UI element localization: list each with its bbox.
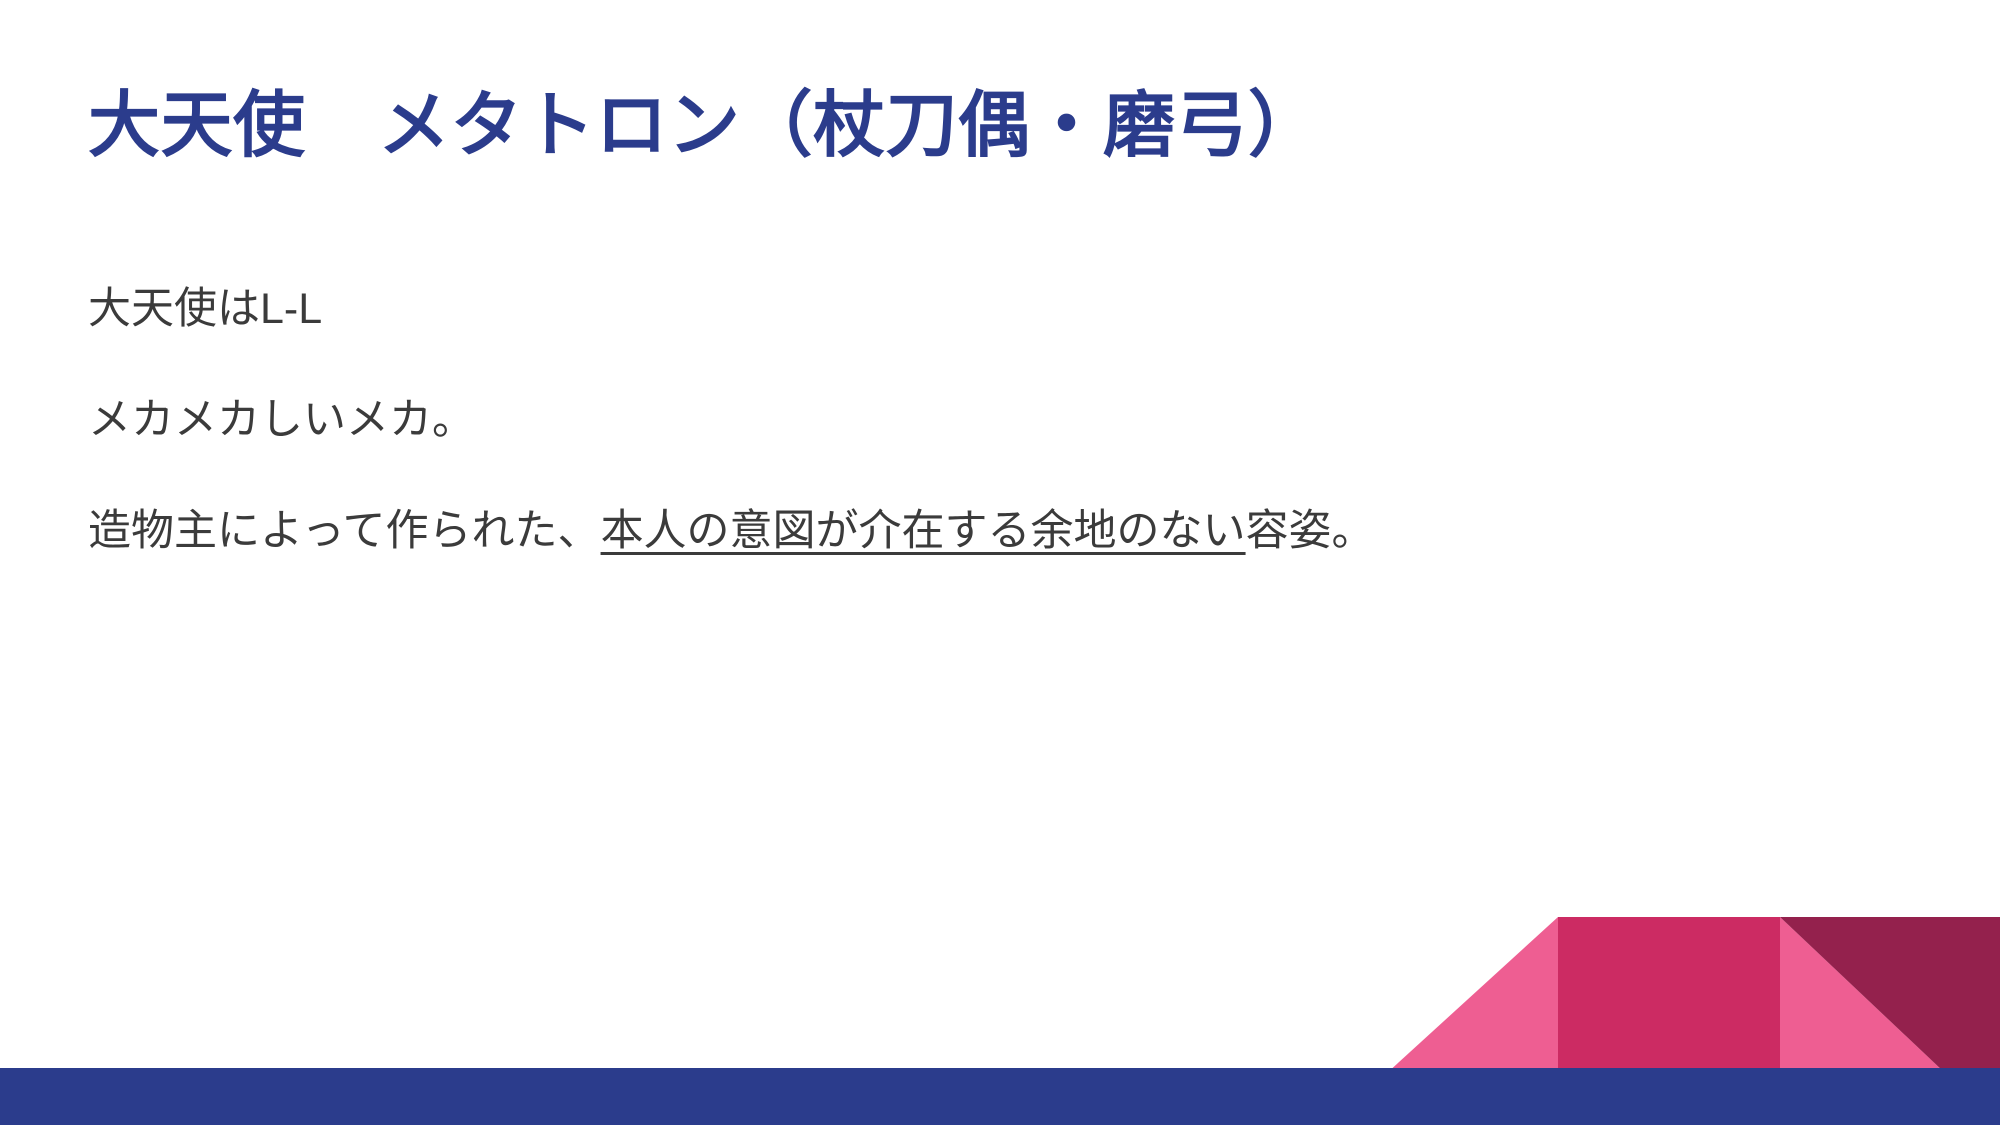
body-placeholder[interactable]: 大天使はL-L メカメカしいメカ。 造物主によって作られた、本人の意図が介在する… (88, 282, 1888, 559)
slide-canvas: 大天使 メタトロン（杖刀偶・磨弓） 大天使はL-L メカメカしいメカ。 造物主に… (0, 0, 2000, 1125)
body-line-3-suffix: 容姿。 (1246, 507, 1375, 555)
title-placeholder[interactable]: 大天使 メタトロン（杖刀偶・磨弓） (88, 84, 1838, 169)
body-line-2: メカメカしいメカ。 (88, 393, 1888, 448)
body-line-3-underlined-text: 本人の意図が介在する余地のない (601, 507, 1246, 555)
page-title: 大天使 メタトロン（杖刀偶・磨弓） (88, 84, 1838, 169)
body-line-1: 大天使はL-L (88, 282, 1888, 337)
body-line-3-prefix: 造物主によって作られた、 (88, 507, 601, 555)
bottom-accent-bar (0, 1068, 2000, 1125)
body-line-3: 造物主によって作られた、本人の意図が介在する余地のない容姿。 (88, 504, 1888, 559)
